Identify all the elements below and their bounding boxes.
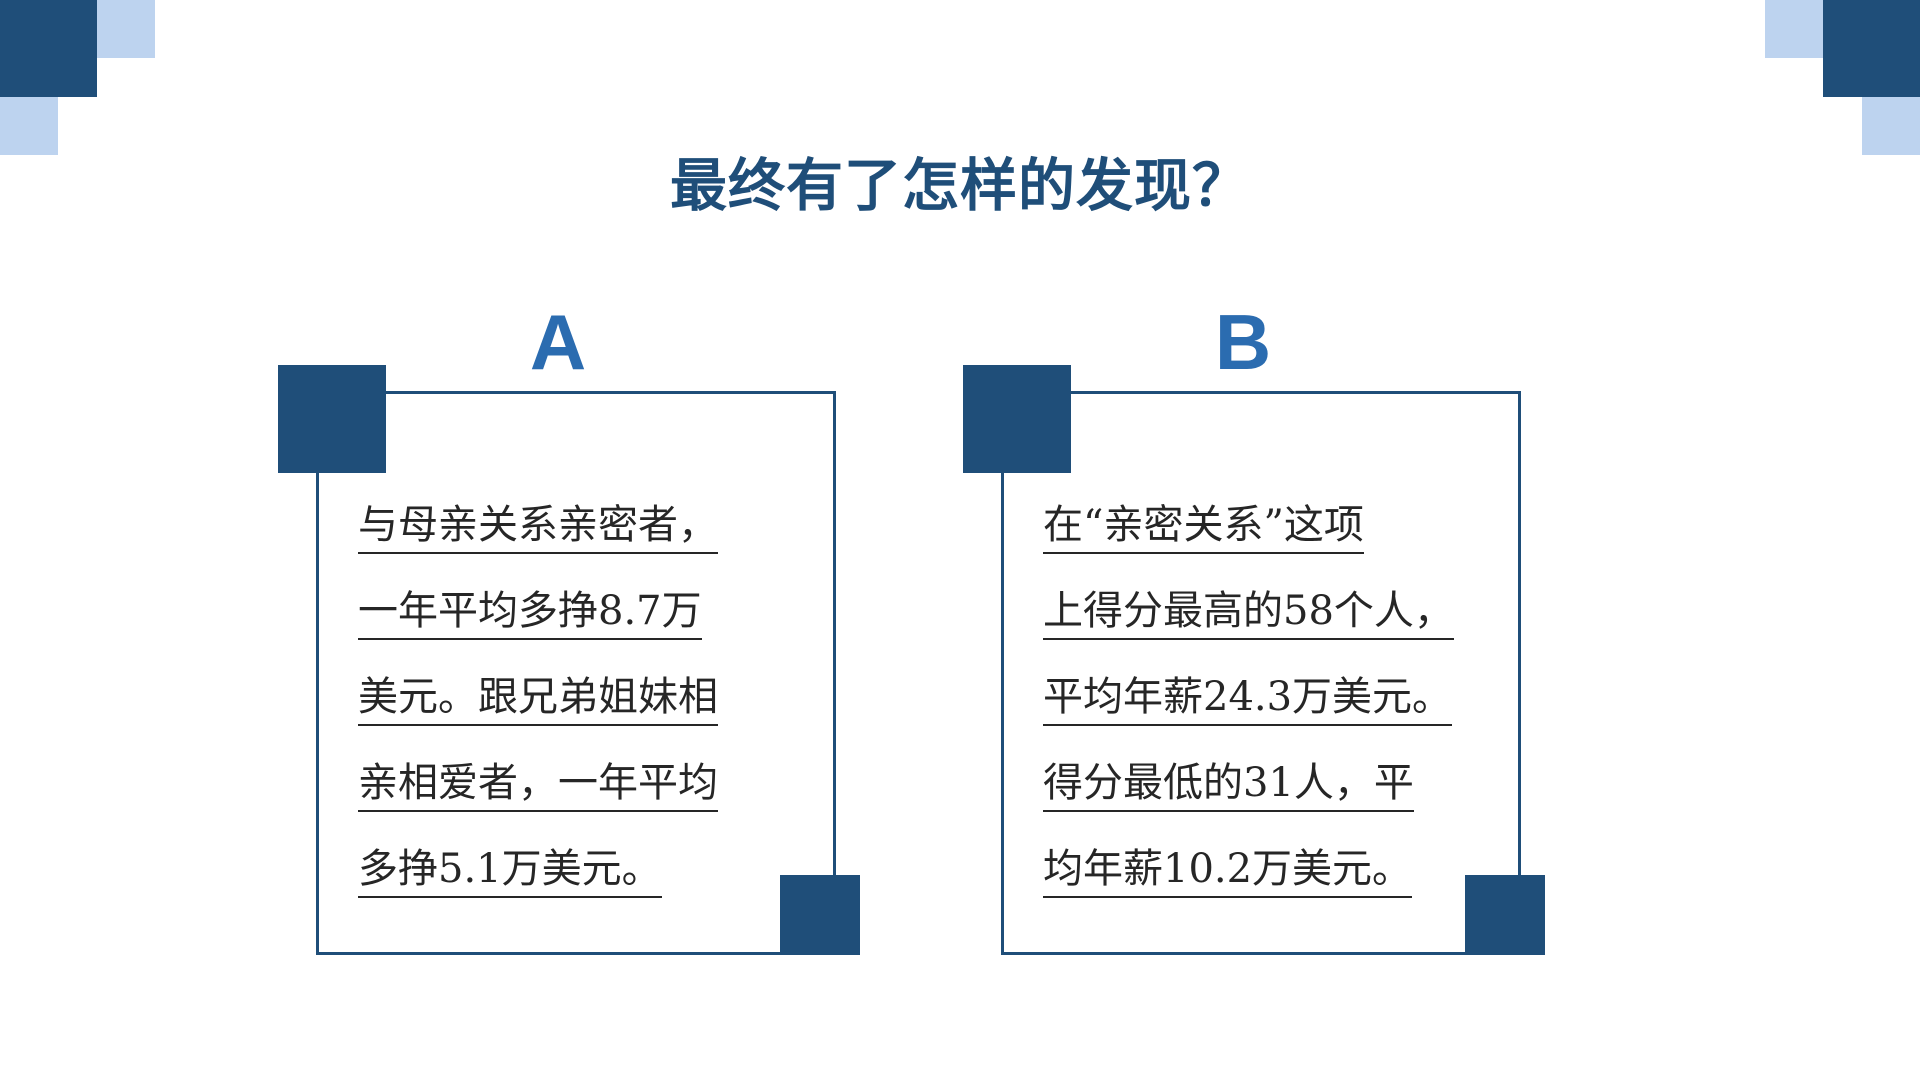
card-a-text-line: 美元。跟兄弟姐妹相	[358, 677, 718, 726]
card-b-corner-square-top-left	[963, 365, 1071, 473]
card-b-text-line: 得分最低的31人，平	[1043, 763, 1414, 812]
card-a-text-line: 多挣5.1万美元。	[358, 849, 662, 898]
corner-decoration-top-left-dark	[0, 0, 97, 97]
card-b-text-line: 平均年薪24.3万美元。	[1043, 677, 1452, 726]
corner-decoration-top-left-light-upper	[97, 0, 155, 58]
card-b-letter: B	[1093, 303, 1393, 381]
card-b-text-line: 上得分最高的58个人，	[1043, 591, 1454, 640]
card-a-corner-square-top-left	[278, 365, 386, 473]
card-b: B 在“亲密关系”这项 上得分最高的58个人， 平均年薪24.3万美元。 得分最…	[963, 365, 1523, 955]
card-a-text-line: 亲相爱者，一年平均	[358, 763, 718, 812]
corner-decoration-top-left-light-lower	[0, 97, 58, 155]
corner-decoration-top-right-light-lower	[1862, 97, 1920, 155]
card-b-text-line: 均年薪10.2万美元。	[1043, 849, 1412, 898]
corner-decoration-top-right-light-upper	[1765, 0, 1823, 58]
card-b-text: 在“亲密关系”这项 上得分最高的58个人， 平均年薪24.3万美元。 得分最低的…	[1043, 505, 1483, 935]
slide-title: 最终有了怎样的发现？	[0, 157, 1920, 217]
card-a: A 与母亲关系亲密者， 一年平均多挣8.7万 美元。跟兄弟姐妹相 亲相爱者，一年…	[278, 365, 838, 955]
card-a-text: 与母亲关系亲密者， 一年平均多挣8.7万 美元。跟兄弟姐妹相 亲相爱者，一年平均…	[358, 505, 798, 935]
card-a-text-line: 一年平均多挣8.7万	[358, 591, 702, 640]
card-a-text-line: 与母亲关系亲密者，	[358, 505, 718, 554]
corner-decoration-top-right-dark	[1823, 0, 1920, 97]
card-a-letter: A	[408, 303, 708, 381]
card-b-text-line: 在“亲密关系”这项	[1043, 505, 1364, 554]
